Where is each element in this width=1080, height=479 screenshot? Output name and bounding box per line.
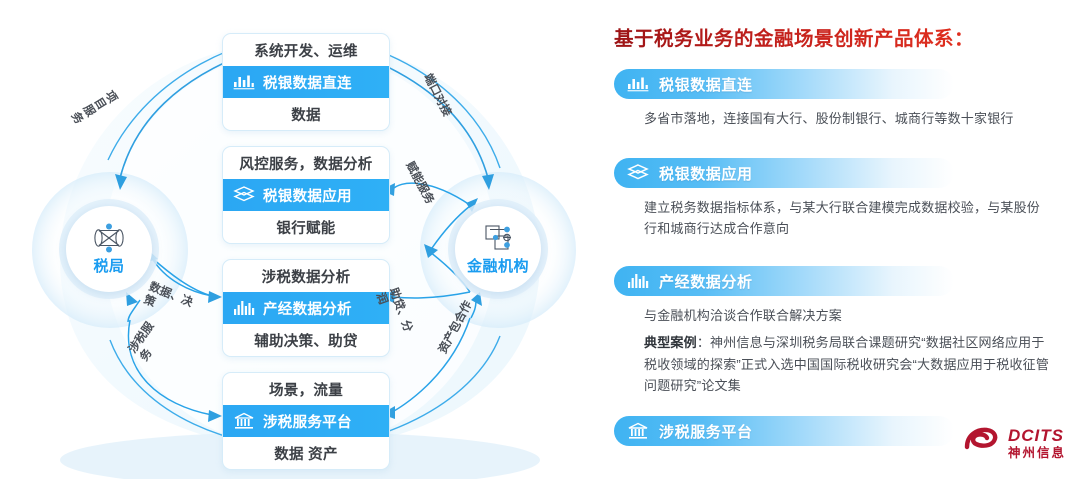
financial-institution-icon [481,222,515,254]
section-direct-connection: 税银数据直连 多省市落地，连接国有大行、股份制银行、城商行等数十家银行 [614,69,1066,135]
section-pill-label: 产经数据分析 [659,271,753,292]
dcits-mark-icon [963,426,1001,461]
section-pill-label: 涉税服务平台 [659,421,753,442]
analytics-bars-icon [232,300,256,317]
card-highlight-text: 产经数据分析 [263,298,352,319]
card-data-application[interactable]: 风控服务，数据分析 税银数据应用 银行赋能 [222,146,390,244]
node-financial-institution[interactable]: 金融机构 [455,206,541,292]
card-bottom-text: 银行赋能 [223,211,389,243]
card-highlight-text: 税银数据直连 [263,72,352,93]
card-highlight-text: 涉税服务平台 [263,411,352,432]
section-industry-analytics: 产经数据分析 与金融机构洽谈合作联合解决方案 典型案例：神州信息与深圳税务局联合… [614,266,1066,403]
node-tax-bureau[interactable]: 税局 [66,206,152,292]
section-data-application: 税银数据应用 建立税务数据指标体系，与某大行联合建模完成数据校验，与某股份行和城… [614,158,1066,246]
section-paragraph-case: 典型案例：神州信息与深圳税务局联合课题研究“数据社区网络应用于税收领域的探索”正… [644,332,1052,396]
analytics-bars-icon [626,273,650,290]
node-tax-bureau-label: 税局 [93,255,124,276]
card-highlight-text: 税银数据应用 [263,185,352,206]
card-bottom-text: 辅助决策、助贷 [223,324,389,356]
bar-chart-icon [626,76,650,92]
dcits-logo-line1: DCITS [1008,427,1066,444]
section-body: 与金融机构洽谈合作联合解决方案 典型案例：神州信息与深圳税务局联合课题研究“数据… [614,305,1066,397]
card-highlight-row[interactable]: 涉税服务平台 [223,405,389,437]
card-bottom-text: 数据 [223,98,389,130]
ecosystem-diagram: 税局 金融机构 系统开发、运维 [0,0,600,479]
panel-title: 基于税务业务的金融场景创新产品体系： [614,22,974,51]
section-body: 多省市落地，连接国有大行、股份制银行、城商行等数十家银行 [614,108,1066,129]
layers-icon [232,186,256,204]
section-pill[interactable]: 产经数据分析 [614,266,954,296]
tax-bureau-icon [92,222,126,254]
section-pill[interactable]: 涉税服务平台 [614,416,954,446]
section-pill-label: 税银数据应用 [659,163,753,184]
product-system-panel: 基于税务业务的金融场景创新产品体系： 税银数据直连 多省市落地，连接 [600,0,1080,479]
card-highlight-row[interactable]: 产经数据分析 [223,292,389,324]
bank-building-icon [626,422,650,440]
bank-building-icon [232,412,256,430]
case-text: ：神州信息与深圳税务局联合课题研究“数据社区网络应用于税收领域的探索”正式入选中… [644,335,1049,393]
section-pill[interactable]: 税银数据直连 [614,69,954,99]
section-pill[interactable]: 税银数据应用 [614,158,954,188]
card-top-text: 场景，流量 [223,373,389,405]
card-direct-connection[interactable]: 系统开发、运维 税银数据直连 数据 [222,33,390,131]
section-body: 建立税务数据指标体系，与某大行联合建模完成数据校验，与某股份行和城商行达成合作意… [614,197,1066,240]
card-tax-service-platform[interactable]: 场景，流量 涉税服务平台 数据 资产 [222,372,390,470]
bar-chart-icon [232,74,256,90]
layers-icon [626,164,650,182]
dcits-logo: DCITS 神州信息 [963,426,1066,461]
dcits-logo-line2: 神州信息 [1008,447,1066,460]
card-top-text: 涉税数据分析 [223,260,389,292]
card-bottom-text: 数据 资产 [223,437,389,469]
section-paragraph: 多省市落地，连接国有大行、股份制银行、城商行等数十家银行 [644,108,1066,129]
card-top-text: 系统开发、运维 [223,34,389,66]
card-highlight-row[interactable]: 税银数据直连 [223,66,389,98]
section-pill-label: 税银数据直连 [659,74,753,95]
case-label: 典型案例 [644,335,697,350]
node-financial-institution-label: 金融机构 [467,255,529,276]
section-paragraph: 建立税务数据指标体系，与某大行联合建模完成数据校验，与某股份行和城商行达成合作意… [644,197,1044,240]
section-paragraph: 与金融机构洽谈合作联合解决方案 [644,305,1066,326]
card-highlight-row[interactable]: 税银数据应用 [223,179,389,211]
card-top-text: 风控服务，数据分析 [223,147,389,179]
card-industry-analytics[interactable]: 涉税数据分析 产经数据分析 辅助决策、助贷 [222,259,390,357]
